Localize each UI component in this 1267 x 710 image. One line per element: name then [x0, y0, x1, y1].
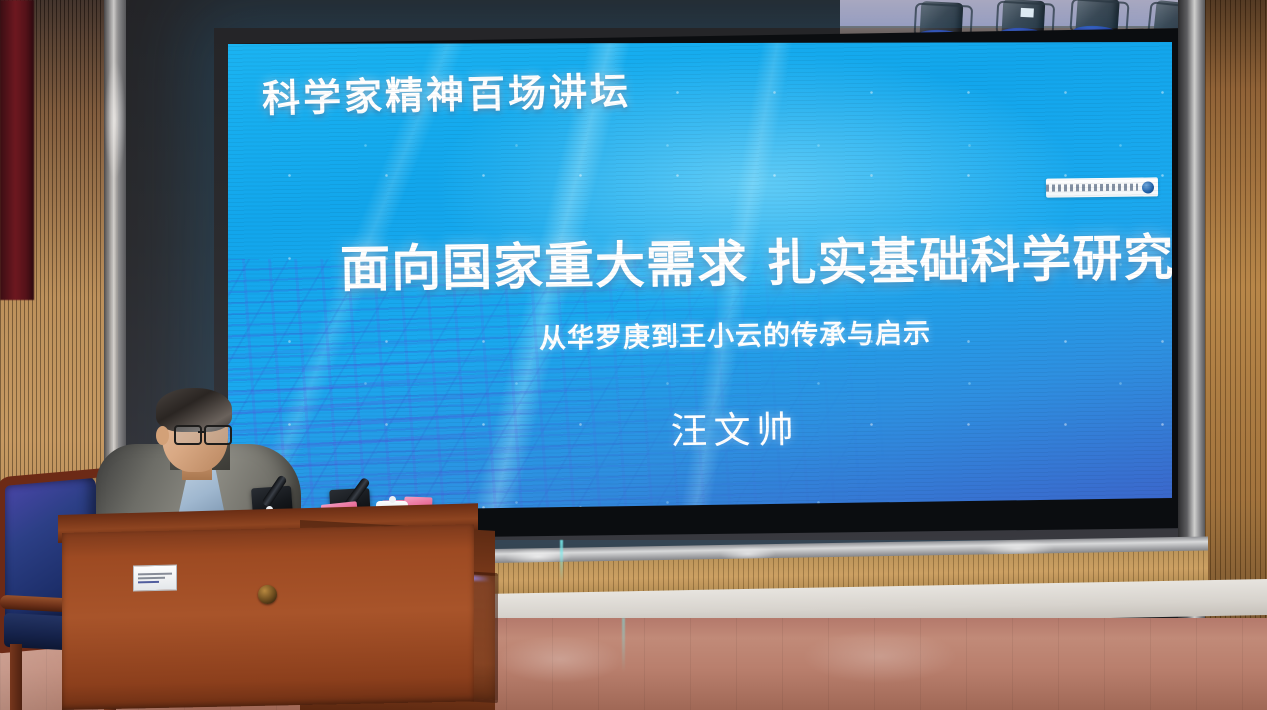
speaker-ear: [156, 426, 169, 445]
equipment-label-tag: [133, 565, 177, 592]
podium-side-panel: [62, 524, 474, 710]
logo-emblem-icon: [1142, 181, 1154, 193]
floor-light-reflection: [622, 618, 625, 672]
eyeglasses-icon: [174, 425, 232, 442]
led-screen[interactable]: 科学家精神百场讲坛 面向国家重大需求 扎实基础科学研究 从华罗庚到王小云的传承与…: [228, 42, 1172, 514]
cable-grommet-icon: [258, 585, 277, 604]
slide-main-title: 面向国家重大需求 扎实基础科学研究: [340, 218, 1131, 301]
left-red-curtain: [0, 0, 34, 300]
slide-speaker-name: 汪文帅: [340, 394, 1131, 459]
slide-header-text: 科学家精神百场讲坛: [261, 60, 631, 123]
lecture-hall-screenshot: 科学家精神百场讲坛 面向国家重大需求 扎实基础科学研究 从华罗庚到王小云的传承与…: [0, 0, 1267, 710]
logo-wordmark: [1046, 184, 1138, 192]
floor-light-reflection: [560, 540, 563, 582]
right-wood-slat-wall: [1205, 0, 1267, 640]
chair-leg: [10, 644, 22, 710]
institution-logo-plaque: [1046, 177, 1158, 197]
